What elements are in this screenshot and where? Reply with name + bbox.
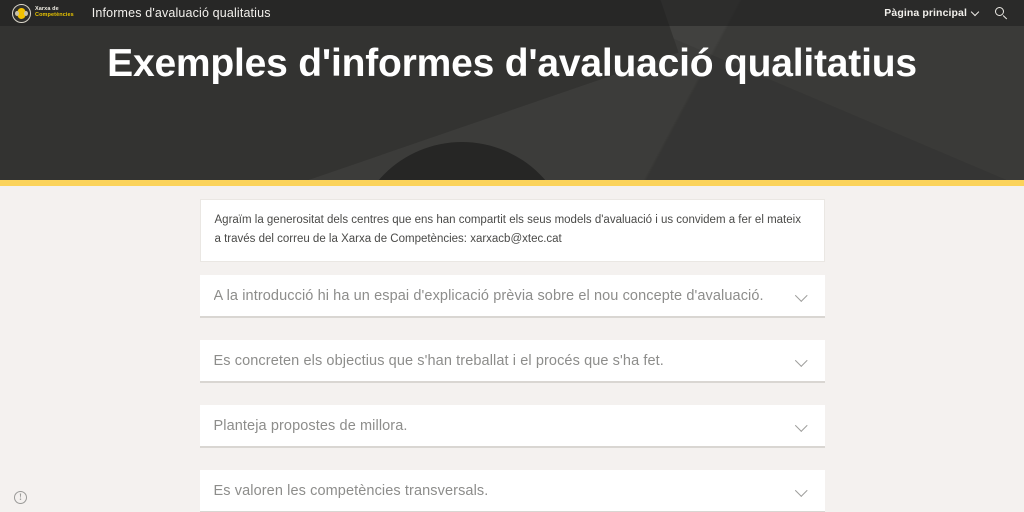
accordion-item-1[interactable]: Es concreten els objectius que s'han tre…: [200, 340, 825, 383]
accordion-item-2-label: Planteja propostes de millora.: [214, 418, 796, 434]
search-icon[interactable]: [995, 7, 1008, 20]
accordion-item-3-label: Es valoren les competències transversals…: [214, 483, 796, 499]
accordion-item-3[interactable]: Es valoren les competències transversals…: [200, 470, 825, 512]
site-brand[interactable]: Xarxa de Competències: [12, 4, 74, 23]
chevron-down-icon[interactable]: [796, 289, 809, 302]
accordion-list: A la introducció hi ha un espai d'explic…: [200, 275, 825, 512]
nav-item-home[interactable]: Pàgina principal: [884, 7, 979, 19]
decorative-dark-dome: [352, 142, 572, 180]
accordion-item-2[interactable]: Planteja propostes de millora.: [200, 405, 825, 448]
xarxa-circular-emblem-icon: [12, 4, 31, 23]
chevron-down-icon[interactable]: [796, 354, 809, 367]
chevron-down-icon: [972, 9, 979, 16]
accordion-item-0[interactable]: A la introducció hi ha un espai d'explic…: [200, 275, 825, 318]
content-column: Agraïm la generositat dels centres que e…: [200, 199, 825, 512]
page-body: Agraïm la generositat dels centres que e…: [0, 186, 1024, 512]
accordion-item-0-label: A la introducció hi ha un espai d'explic…: [214, 288, 796, 304]
nav-item-home-label: Pàgina principal: [884, 7, 967, 19]
chevron-down-icon[interactable]: [796, 484, 809, 497]
accordion-item-1-label: Es concreten els objectius que s'han tre…: [214, 353, 796, 369]
top-navbar: Xarxa de Competències Informes d'avaluac…: [0, 0, 1024, 26]
navbar-right-group: Pàgina principal: [884, 7, 1012, 20]
chevron-down-icon[interactable]: [796, 419, 809, 432]
info-circle-icon[interactable]: !: [14, 491, 27, 504]
hero-banner: Xarxa de Competències Informes d'avaluac…: [0, 0, 1024, 180]
brand-wordmark: Xarxa de Competències: [35, 7, 74, 18]
page-title: Exemples d'informes d'avaluació qualitat…: [0, 36, 1024, 91]
intro-text-card: Agraïm la generositat dels centres que e…: [200, 199, 825, 262]
site-title: Informes d'avaluació qualitatius: [92, 6, 271, 20]
brand-line-2: Competències: [35, 13, 74, 19]
